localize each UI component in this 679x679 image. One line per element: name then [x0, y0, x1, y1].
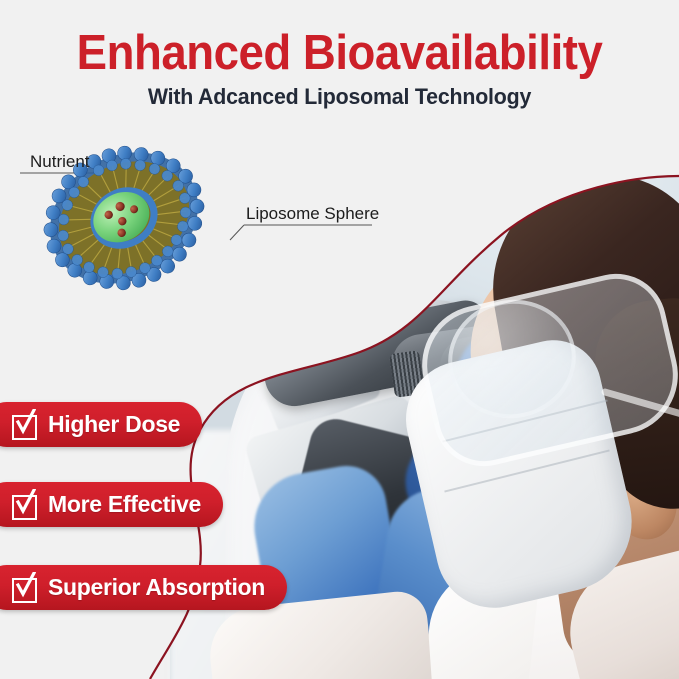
- benefit-label: More Effective: [48, 491, 201, 518]
- benefit-label: Superior Absorption: [48, 574, 265, 601]
- liposome-sphere-callout: [230, 225, 372, 240]
- liposome-diagram: Nutrient Liposome Sphere: [14, 142, 394, 292]
- benefit-label: Higher Dose: [48, 411, 180, 438]
- promo-graphic: Enhanced Bioavailability With Adcanced L…: [0, 0, 679, 679]
- benefit-badge-superior-absorption[interactable]: Superior Absorption: [0, 565, 287, 610]
- benefit-badge-more-effective[interactable]: More Effective: [0, 482, 223, 527]
- nutrient-label: Nutrient: [30, 152, 90, 171]
- page-subtitle: With Adcanced Liposomal Technology: [10, 84, 669, 110]
- page-title: Enhanced Bioavailability: [24, 26, 655, 80]
- checkbox-check-icon: [12, 575, 38, 601]
- benefit-badge-higher-dose[interactable]: Higher Dose: [0, 402, 202, 447]
- checkbox-check-icon: [12, 492, 38, 518]
- checkbox-check-icon: [12, 412, 38, 438]
- liposome-sphere-label: Liposome Sphere: [246, 204, 379, 223]
